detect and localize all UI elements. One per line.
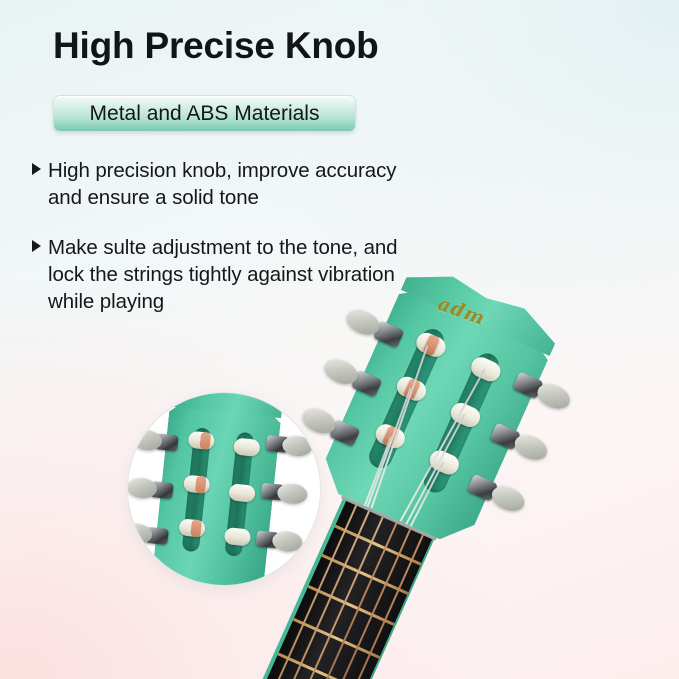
tuner-barrel	[228, 483, 256, 503]
tuner-roller	[195, 476, 207, 494]
product-photo: adm	[0, 0, 679, 679]
tuner-barrel	[233, 437, 261, 457]
detail-inset-circle	[128, 393, 320, 585]
tuner-roller	[190, 519, 202, 537]
tuner-roller	[199, 432, 211, 450]
tuner-barrel	[224, 527, 252, 547]
inset-headstock	[130, 393, 313, 585]
tuning-knob[interactable]	[281, 435, 313, 458]
product-feature-page: High Precise Knob Metal and ABS Material…	[0, 0, 679, 679]
tuning-knob[interactable]	[271, 530, 303, 553]
tuning-knob[interactable]	[276, 482, 308, 505]
